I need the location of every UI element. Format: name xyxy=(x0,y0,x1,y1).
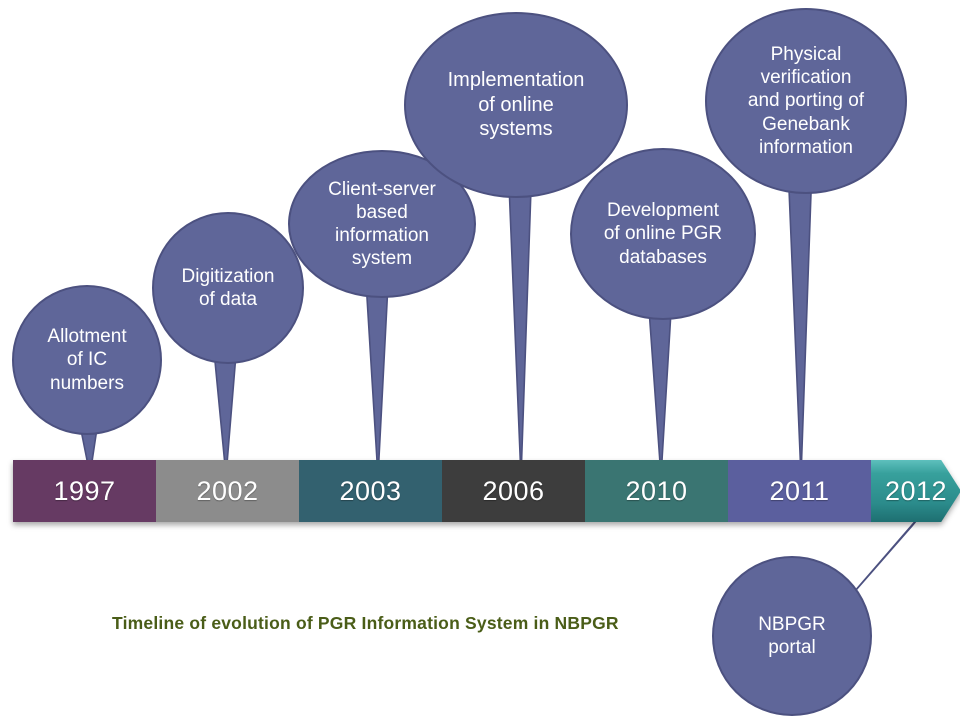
callout-tail-online-systems xyxy=(495,160,545,480)
callout-pgr-databases[interactable]: Development of online PGR databases xyxy=(570,148,756,320)
timeline-year-2003: 2003 xyxy=(339,476,401,507)
timeline-segment-2010[interactable]: 2010 xyxy=(585,460,728,522)
timeline-year-2010: 2010 xyxy=(625,476,687,507)
timeline-segment-2002[interactable]: 2002 xyxy=(156,460,299,522)
timeline-year-1997: 1997 xyxy=(53,476,115,507)
timeline-year-2002: 2002 xyxy=(196,476,258,507)
callout-genebank[interactable]: Physical verification and porting of Gen… xyxy=(705,8,907,194)
timeline-year-2012: 2012 xyxy=(885,476,947,507)
callout-digitization[interactable]: Digitization of data xyxy=(152,212,304,364)
timeline-segment-2006[interactable]: 2006 xyxy=(442,460,585,522)
callout-tail-pgr-databases xyxy=(635,295,685,480)
timeline-segment-1997[interactable]: 1997 xyxy=(13,460,156,522)
timeline-bar: 1997 2002 2003 2006 2010 2011 2012 xyxy=(13,460,945,522)
callout-online-systems-label: Implementation of online systems xyxy=(438,68,595,141)
callout-client-server-label: Client-server based information system xyxy=(318,178,446,271)
timeline-diagram: Allotment of IC numbers Digitization of … xyxy=(0,0,960,720)
timeline-segment-2012[interactable]: 2012 xyxy=(871,460,960,522)
timeline-year-2011: 2011 xyxy=(769,476,829,507)
callout-allotment[interactable]: Allotment of IC numbers xyxy=(12,285,162,435)
timeline-segment-2011[interactable]: 2011 xyxy=(728,460,871,522)
callout-digitization-label: Digitization of data xyxy=(172,265,285,311)
callout-nbpgr-portal[interactable]: NBPGR portal xyxy=(712,556,872,716)
timeline-segment-2003[interactable]: 2003 xyxy=(299,460,442,522)
diagram-caption: Timeline of evolution of PGR Information… xyxy=(112,613,619,634)
callout-genebank-label: Physical verification and porting of Gen… xyxy=(738,43,874,159)
callout-allotment-label: Allotment of IC numbers xyxy=(37,325,136,395)
callout-pgr-databases-label: Development of online PGR databases xyxy=(594,199,732,269)
timeline-year-2006: 2006 xyxy=(482,476,544,507)
callout-tail-genebank xyxy=(775,165,825,480)
callout-nbpgr-portal-label: NBPGR portal xyxy=(748,613,836,659)
callout-online-systems[interactable]: Implementation of online systems xyxy=(404,12,628,198)
